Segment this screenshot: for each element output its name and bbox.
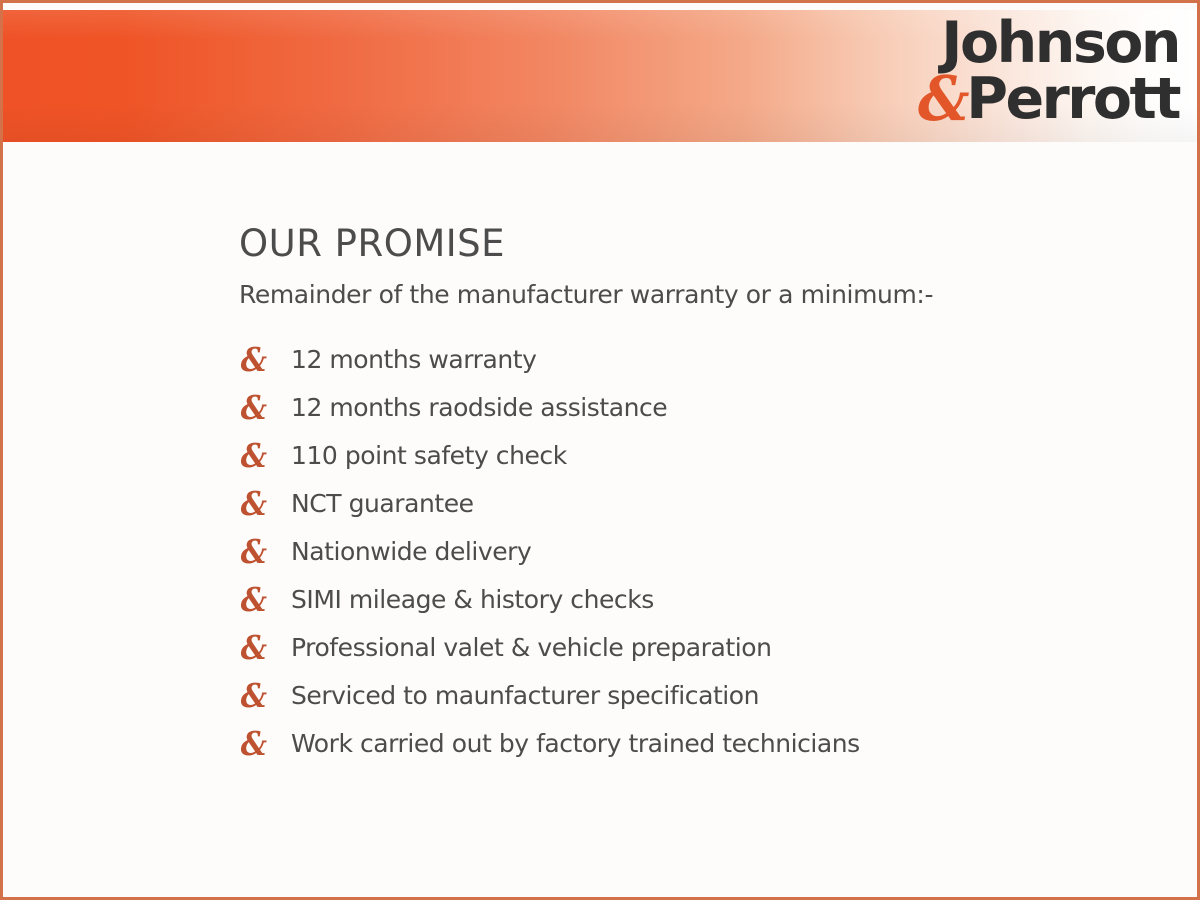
- ampersand-bullet-icon: &: [239, 535, 285, 568]
- list-item-label: 12 months warranty: [291, 346, 536, 374]
- promise-list: & 12 months warranty & 12 months raodsid…: [239, 336, 1159, 768]
- ampersand-bullet-icon: &: [239, 487, 285, 520]
- johnson-perrott-logo: Johnson &Perrott: [916, 17, 1179, 127]
- ampersand-bullet-icon: &: [239, 679, 285, 712]
- ampersand-bullet-icon: &: [239, 631, 285, 664]
- ampersand-bullet-icon: &: [239, 583, 285, 616]
- promise-subtitle: Remainder of the manufacturer warranty o…: [239, 281, 1159, 310]
- ampersand-bullet-icon: &: [239, 343, 285, 376]
- logo-ampersand-icon: &: [918, 70, 964, 127]
- list-item-label: 110 point safety check: [291, 442, 567, 470]
- ampersand-bullet-icon: &: [239, 727, 285, 760]
- list-item: & 12 months warranty: [239, 336, 1159, 384]
- list-item-label: Serviced to maunfacturer specification: [291, 682, 759, 710]
- list-item-label: Nationwide delivery: [291, 538, 531, 566]
- list-item: & 12 months raodside assistance: [239, 384, 1159, 432]
- list-item-label: NCT guarantee: [291, 490, 474, 518]
- list-item: & Serviced to maunfacturer specification: [239, 672, 1159, 720]
- ampersand-bullet-icon: &: [239, 439, 285, 472]
- logo-text-perrott: Perrott: [966, 66, 1179, 132]
- list-item: & 110 point safety check: [239, 432, 1159, 480]
- list-item-label: 12 months raodside assistance: [291, 394, 667, 422]
- list-item-label: SIMI mileage & history checks: [291, 586, 654, 614]
- list-item: & Professional valet & vehicle preparati…: [239, 624, 1159, 672]
- list-item-label: Professional valet & vehicle preparation: [291, 634, 771, 662]
- list-item: & NCT guarantee: [239, 480, 1159, 528]
- promise-poster: Johnson &Perrott OUR PROMISE Remainder o…: [0, 0, 1200, 900]
- list-item-label: Work carried out by factory trained tech…: [291, 730, 860, 758]
- list-item: & SIMI mileage & history checks: [239, 576, 1159, 624]
- page-title: OUR PROMISE: [239, 225, 1159, 264]
- promise-content: OUR PROMISE Remainder of the manufacture…: [239, 225, 1159, 768]
- list-item: & Work carried out by factory trained te…: [239, 720, 1159, 768]
- logo-text-perrott-line: &Perrott: [916, 70, 1179, 127]
- list-item: & Nationwide delivery: [239, 528, 1159, 576]
- ampersand-bullet-icon: &: [239, 391, 285, 424]
